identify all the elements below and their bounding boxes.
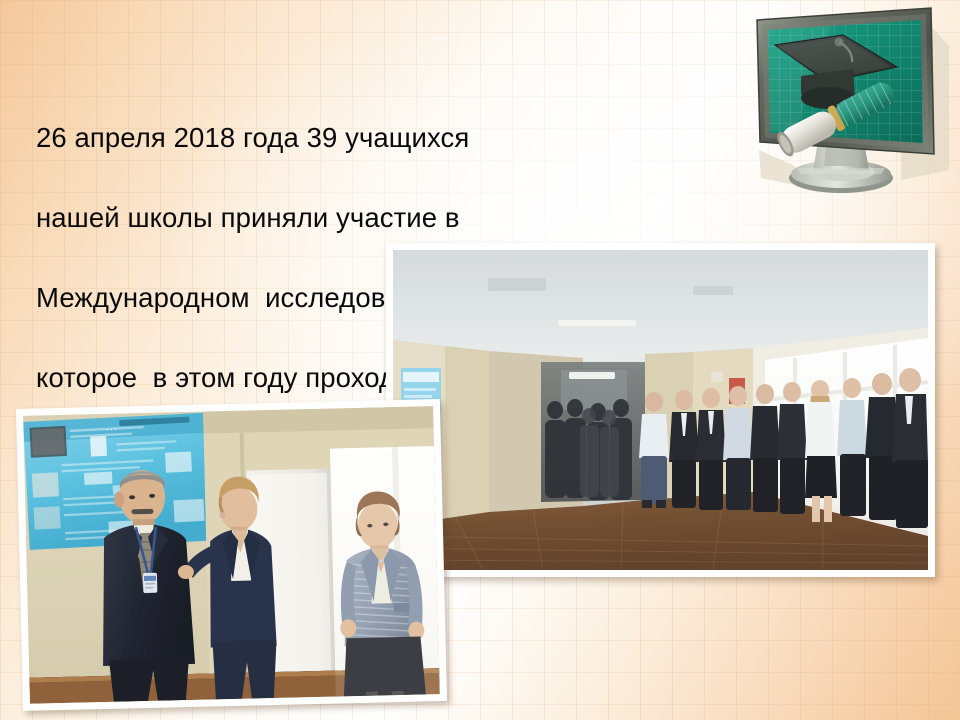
headline-line-2: нашей школы приняли участие в xyxy=(36,198,826,238)
monitor-graduation-diploma-icon xyxy=(735,2,960,200)
photo-officials-image: ··· xyxy=(23,406,440,704)
headline-line-1: 26 апреля 2018 года 39 учащихся xyxy=(36,118,826,158)
photo-officials[interactable]: ··· xyxy=(16,399,447,711)
photo-corridor[interactable] xyxy=(386,243,935,577)
slide-canvas: 26 апреля 2018 года 39 учащихся нашей шк… xyxy=(0,0,960,720)
photo-corridor-image xyxy=(393,250,928,570)
